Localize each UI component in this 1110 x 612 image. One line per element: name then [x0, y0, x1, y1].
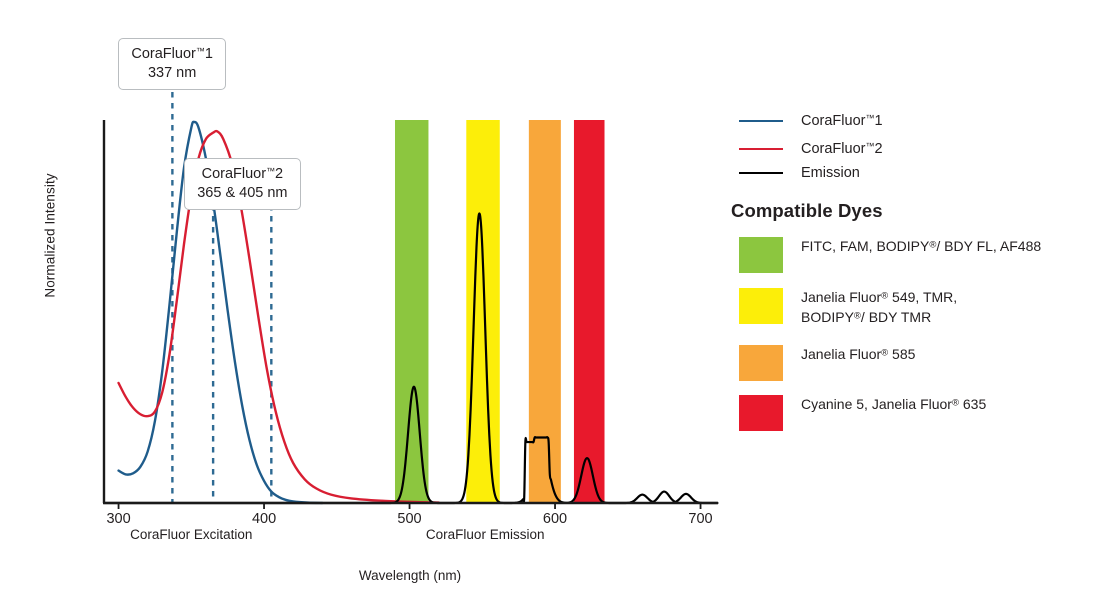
legend-panel: CoraFluor™1CoraFluor™2Emission Compatibl… [731, 0, 1110, 612]
registered-icon: ® [854, 311, 861, 322]
dye-color-swatch [739, 395, 783, 431]
dye-row-1[interactable]: Janelia Fluor® 549, TMR,BODIPY®/ BDY TMR [739, 288, 957, 328]
spectra-chart: Normalized Intensity 300 400 500 600 700… [0, 0, 730, 612]
x-tick-label-300: 300 [89, 511, 149, 527]
registered-icon: ® [952, 398, 959, 409]
dye-label: Cyanine 5, Janelia Fluor® 635 [801, 395, 986, 415]
region-label-excitation: CoraFluor Excitation [81, 527, 301, 542]
legend-item-label: CoraFluor™2 [801, 140, 883, 159]
dye-row-2[interactable]: Janelia Fluor® 585 [739, 345, 915, 381]
legend-item-label: CoraFluor™1 [801, 112, 883, 131]
legend-item-2[interactable]: Emission [739, 164, 860, 183]
trademark-icon: ™ [196, 46, 205, 56]
callout-1-name: CoraFluor [131, 46, 195, 62]
dye-color-swatch [739, 288, 783, 324]
callout-corafluor-2: CoraFluor™2 365 & 405 nm [184, 158, 300, 210]
legend-line-swatch [739, 148, 783, 150]
dye-label: Janelia Fluor® 549, TMR,BODIPY®/ BDY TMR [801, 288, 957, 328]
x-tick-label-600: 600 [525, 511, 585, 527]
x-tick-label-700: 700 [671, 511, 731, 527]
trademark-icon: ™ [266, 166, 275, 176]
legend-item-label: Emission [801, 164, 860, 183]
region-label-emission: CoraFluor Emission [375, 527, 595, 542]
legend-line-swatch [739, 120, 783, 122]
legend-item-0[interactable]: CoraFluor™1 [739, 112, 883, 131]
compatible-dyes-title: Compatible Dyes [731, 200, 883, 222]
wavelength-bands [395, 120, 605, 503]
x-tick-label-400: 400 [234, 511, 294, 527]
callout-2-name: CoraFluor [202, 166, 266, 182]
dye-label: FITC, FAM, BODIPY®/ BDY FL, AF488 [801, 237, 1041, 257]
dye-color-swatch [739, 237, 783, 273]
dye-color-swatch [739, 345, 783, 381]
dye-row-0[interactable]: FITC, FAM, BODIPY®/ BDY FL, AF488 [739, 237, 1041, 273]
legend-item-1[interactable]: CoraFluor™2 [739, 140, 883, 159]
yellow-band [466, 120, 499, 503]
green-band [395, 120, 428, 503]
dye-label: Janelia Fluor® 585 [801, 345, 915, 365]
callout-2-index: 2 [275, 166, 283, 182]
orange-band [529, 120, 561, 503]
x-axis-title: Wavelength (nm) [260, 568, 560, 583]
dye-row-3[interactable]: Cyanine 5, Janelia Fluor® 635 [739, 395, 986, 431]
red-band [574, 120, 605, 503]
legend-line-swatch [739, 172, 783, 174]
callout-2-value: 365 & 405 nm [197, 184, 287, 203]
callout-1-index: 1 [205, 46, 213, 62]
callout-corafluor-1: CoraFluor™1 337 nm [118, 38, 226, 90]
x-tick-label-500: 500 [380, 511, 440, 527]
callout-1-value: 337 nm [131, 64, 213, 83]
y-axis-label: Normalized Intensity [43, 146, 58, 326]
